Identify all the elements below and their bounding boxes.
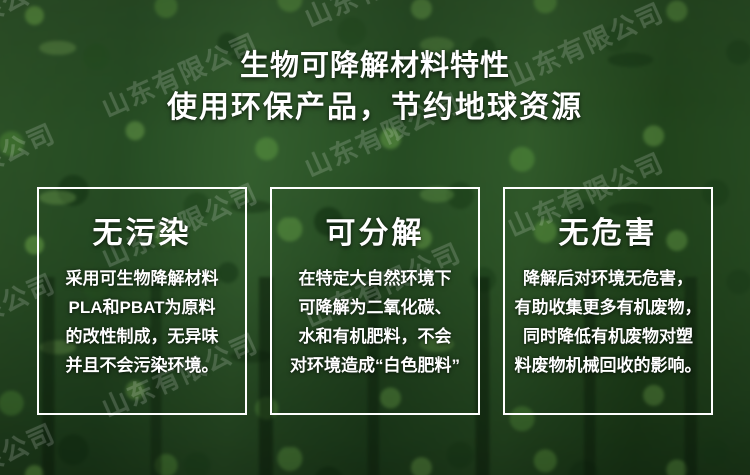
- card-title: 无污染: [93, 217, 192, 251]
- promo-banner: 山东有限公司山东有限公司山东有限公司山东有限公司 山东有限公司山东有限公司山东有…: [0, 0, 750, 475]
- feature-card-degradable: 可分解 在特定大自然环境下 可降解为二氧化碳、 水和有机肥料，不会 对环境造成“…: [270, 187, 480, 415]
- card-body: 降解后对环境无危害， 有助收集更多有机废物， 同时降低有机废物对塑 料废物机械回…: [509, 264, 708, 380]
- feature-card-no-pollution: 无污染 采用可生物降解材料 PLA和PBAT为原料 的改性制成，无异味 并且不会…: [37, 187, 247, 415]
- feature-card-harmless: 无危害 降解后对环境无危害， 有助收集更多有机废物， 同时降低有机废物对塑 料废…: [503, 187, 713, 415]
- feature-card-list: 无污染 采用可生物降解材料 PLA和PBAT为原料 的改性制成，无异味 并且不会…: [37, 187, 713, 415]
- card-body: 采用可生物降解材料 PLA和PBAT为原料 的改性制成，无异味 并且不会污染环境…: [60, 264, 225, 380]
- card-body: 在特定大自然环境下 可降解为二氧化碳、 水和有机肥料，不会 对环境造成“白色肥料…: [284, 264, 466, 380]
- card-title: 可分解: [326, 217, 425, 251]
- banner-heading: 生物可降解材料特性 使用环保产品，节约地球资源: [0, 48, 750, 128]
- card-title: 无危害: [559, 217, 658, 251]
- headline-secondary: 使用环保产品，节约地球资源: [0, 88, 750, 128]
- headline-primary: 生物可降解材料特性: [0, 48, 750, 84]
